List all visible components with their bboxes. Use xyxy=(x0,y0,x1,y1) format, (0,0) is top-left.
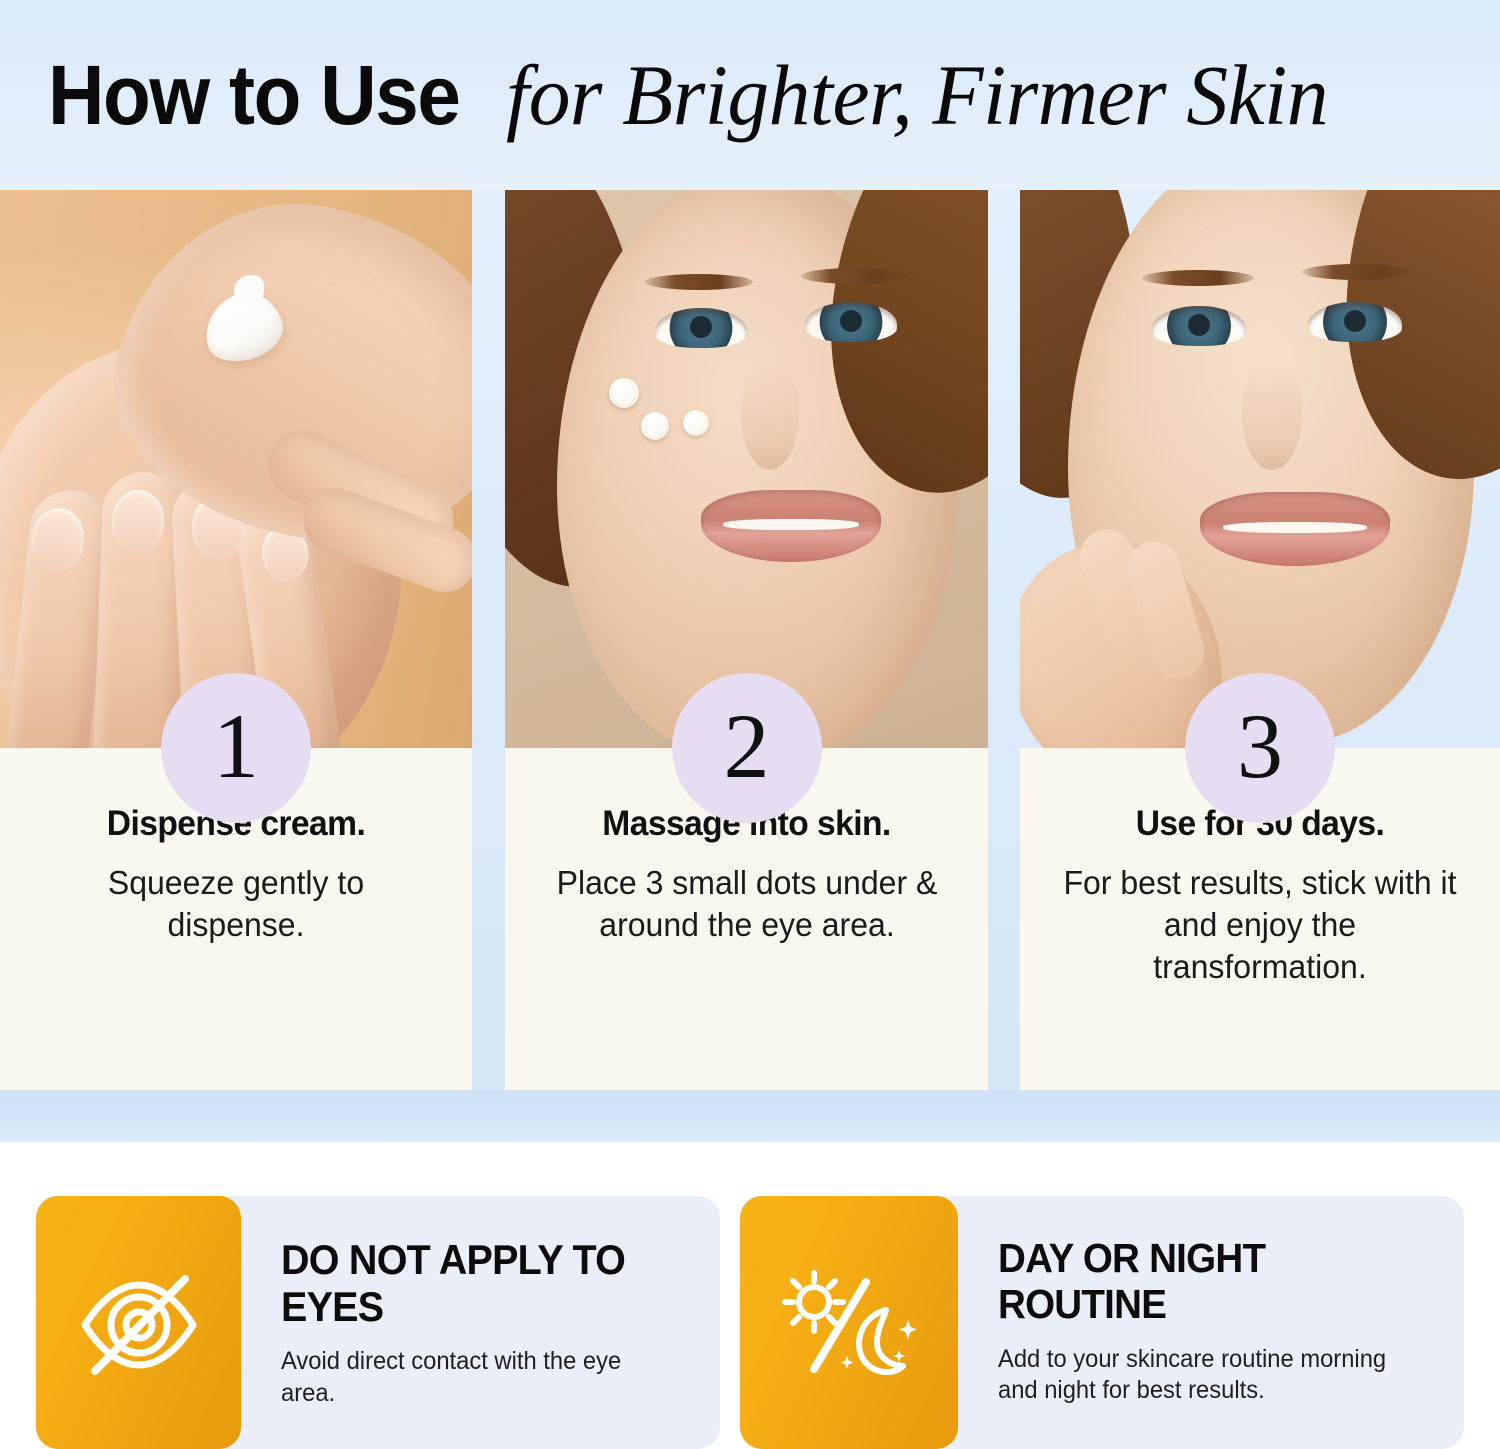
eye-right-shape xyxy=(1308,302,1402,342)
badge-row: DO NOT APPLY TO EYES Avoid direct contac… xyxy=(0,1196,1500,1449)
steps-strip: 1 Dispense cream. Squeeze gently to disp… xyxy=(0,190,1500,1090)
eye-left-shape xyxy=(1152,306,1246,346)
step-number-badge-3: 3 xyxy=(1185,673,1335,823)
step-1-body: Squeeze gently to dispense. xyxy=(52,862,421,946)
eyebrow-right-shape xyxy=(801,268,907,284)
page-title-italic: for Brighter, Firmer Skin xyxy=(506,52,1328,138)
eyebrow-left-shape xyxy=(645,274,753,290)
badge-1-title: DO NOT APPLY TO EYES xyxy=(281,1196,676,1330)
cream-dot xyxy=(683,410,709,436)
step-number-badge-2: 2 xyxy=(672,673,822,823)
step-column-1: 1 Dispense cream. Squeeze gently to disp… xyxy=(0,190,472,1090)
nose-shape xyxy=(1242,358,1302,470)
eye-left-shape xyxy=(655,308,747,348)
step-number-2: 2 xyxy=(724,700,770,792)
nose-shape xyxy=(741,360,799,470)
step-1-photo xyxy=(0,190,472,748)
badge-day-or-night-routine: DAY OR NIGHT ROUTINE Add to your skincar… xyxy=(740,1196,1464,1449)
eyebrow-left-shape xyxy=(1142,270,1254,286)
eyebrow-right-shape xyxy=(1302,264,1412,280)
badge-2-title: DAY OR NIGHT ROUTINE xyxy=(998,1196,1421,1328)
page-title: How to Usefor Brighter, Firmer Skin xyxy=(48,52,1354,138)
step-column-3: 3 Use for 30 days. For best results, sti… xyxy=(1020,190,1500,1090)
sun-moon-icon-tile xyxy=(740,1196,958,1449)
badge-2-subtitle: Add to your skincare routine morning and… xyxy=(998,1344,1426,1407)
badge-1-text: DO NOT APPLY TO EYES Avoid direct contac… xyxy=(281,1196,701,1449)
step-3-photo xyxy=(1020,190,1500,748)
cream-dot xyxy=(641,412,669,440)
step-number-1: 1 xyxy=(213,700,259,792)
how-to-use-infographic: How to Usefor Brighter, Firmer Skin xyxy=(0,0,1500,1449)
eye-off-icon-tile xyxy=(36,1196,241,1449)
step-number-badge-1: 1 xyxy=(161,673,311,823)
fingernail-shape xyxy=(111,489,165,553)
step-2-photo xyxy=(505,190,988,748)
white-gap-band xyxy=(0,1142,1500,1196)
cream-dot xyxy=(609,378,639,408)
badge-do-not-apply-to-eyes: DO NOT APPLY TO EYES Avoid direct contac… xyxy=(36,1196,720,1449)
badge-1-subtitle: Avoid direct contact with the eye area. xyxy=(281,1346,680,1409)
step-3-body: For best results, stick with it and enjo… xyxy=(1056,862,1463,988)
step-2-body: Place 3 small dots under & around the ey… xyxy=(553,862,941,946)
eye-right-shape xyxy=(805,302,897,342)
badge-2-text: DAY OR NIGHT ROUTINE Add to your skincar… xyxy=(998,1196,1448,1449)
header-band: How to Usefor Brighter, Firmer Skin xyxy=(0,0,1500,190)
eye-off-icon xyxy=(75,1267,203,1379)
page-title-bold: How to Use xyxy=(48,53,459,137)
step-number-3: 3 xyxy=(1237,700,1283,792)
step-column-2: 2 Massage into skin. Place 3 small dots … xyxy=(505,190,988,1090)
blue-divider-band xyxy=(0,1090,1500,1142)
sun-moon-icon xyxy=(780,1264,918,1382)
